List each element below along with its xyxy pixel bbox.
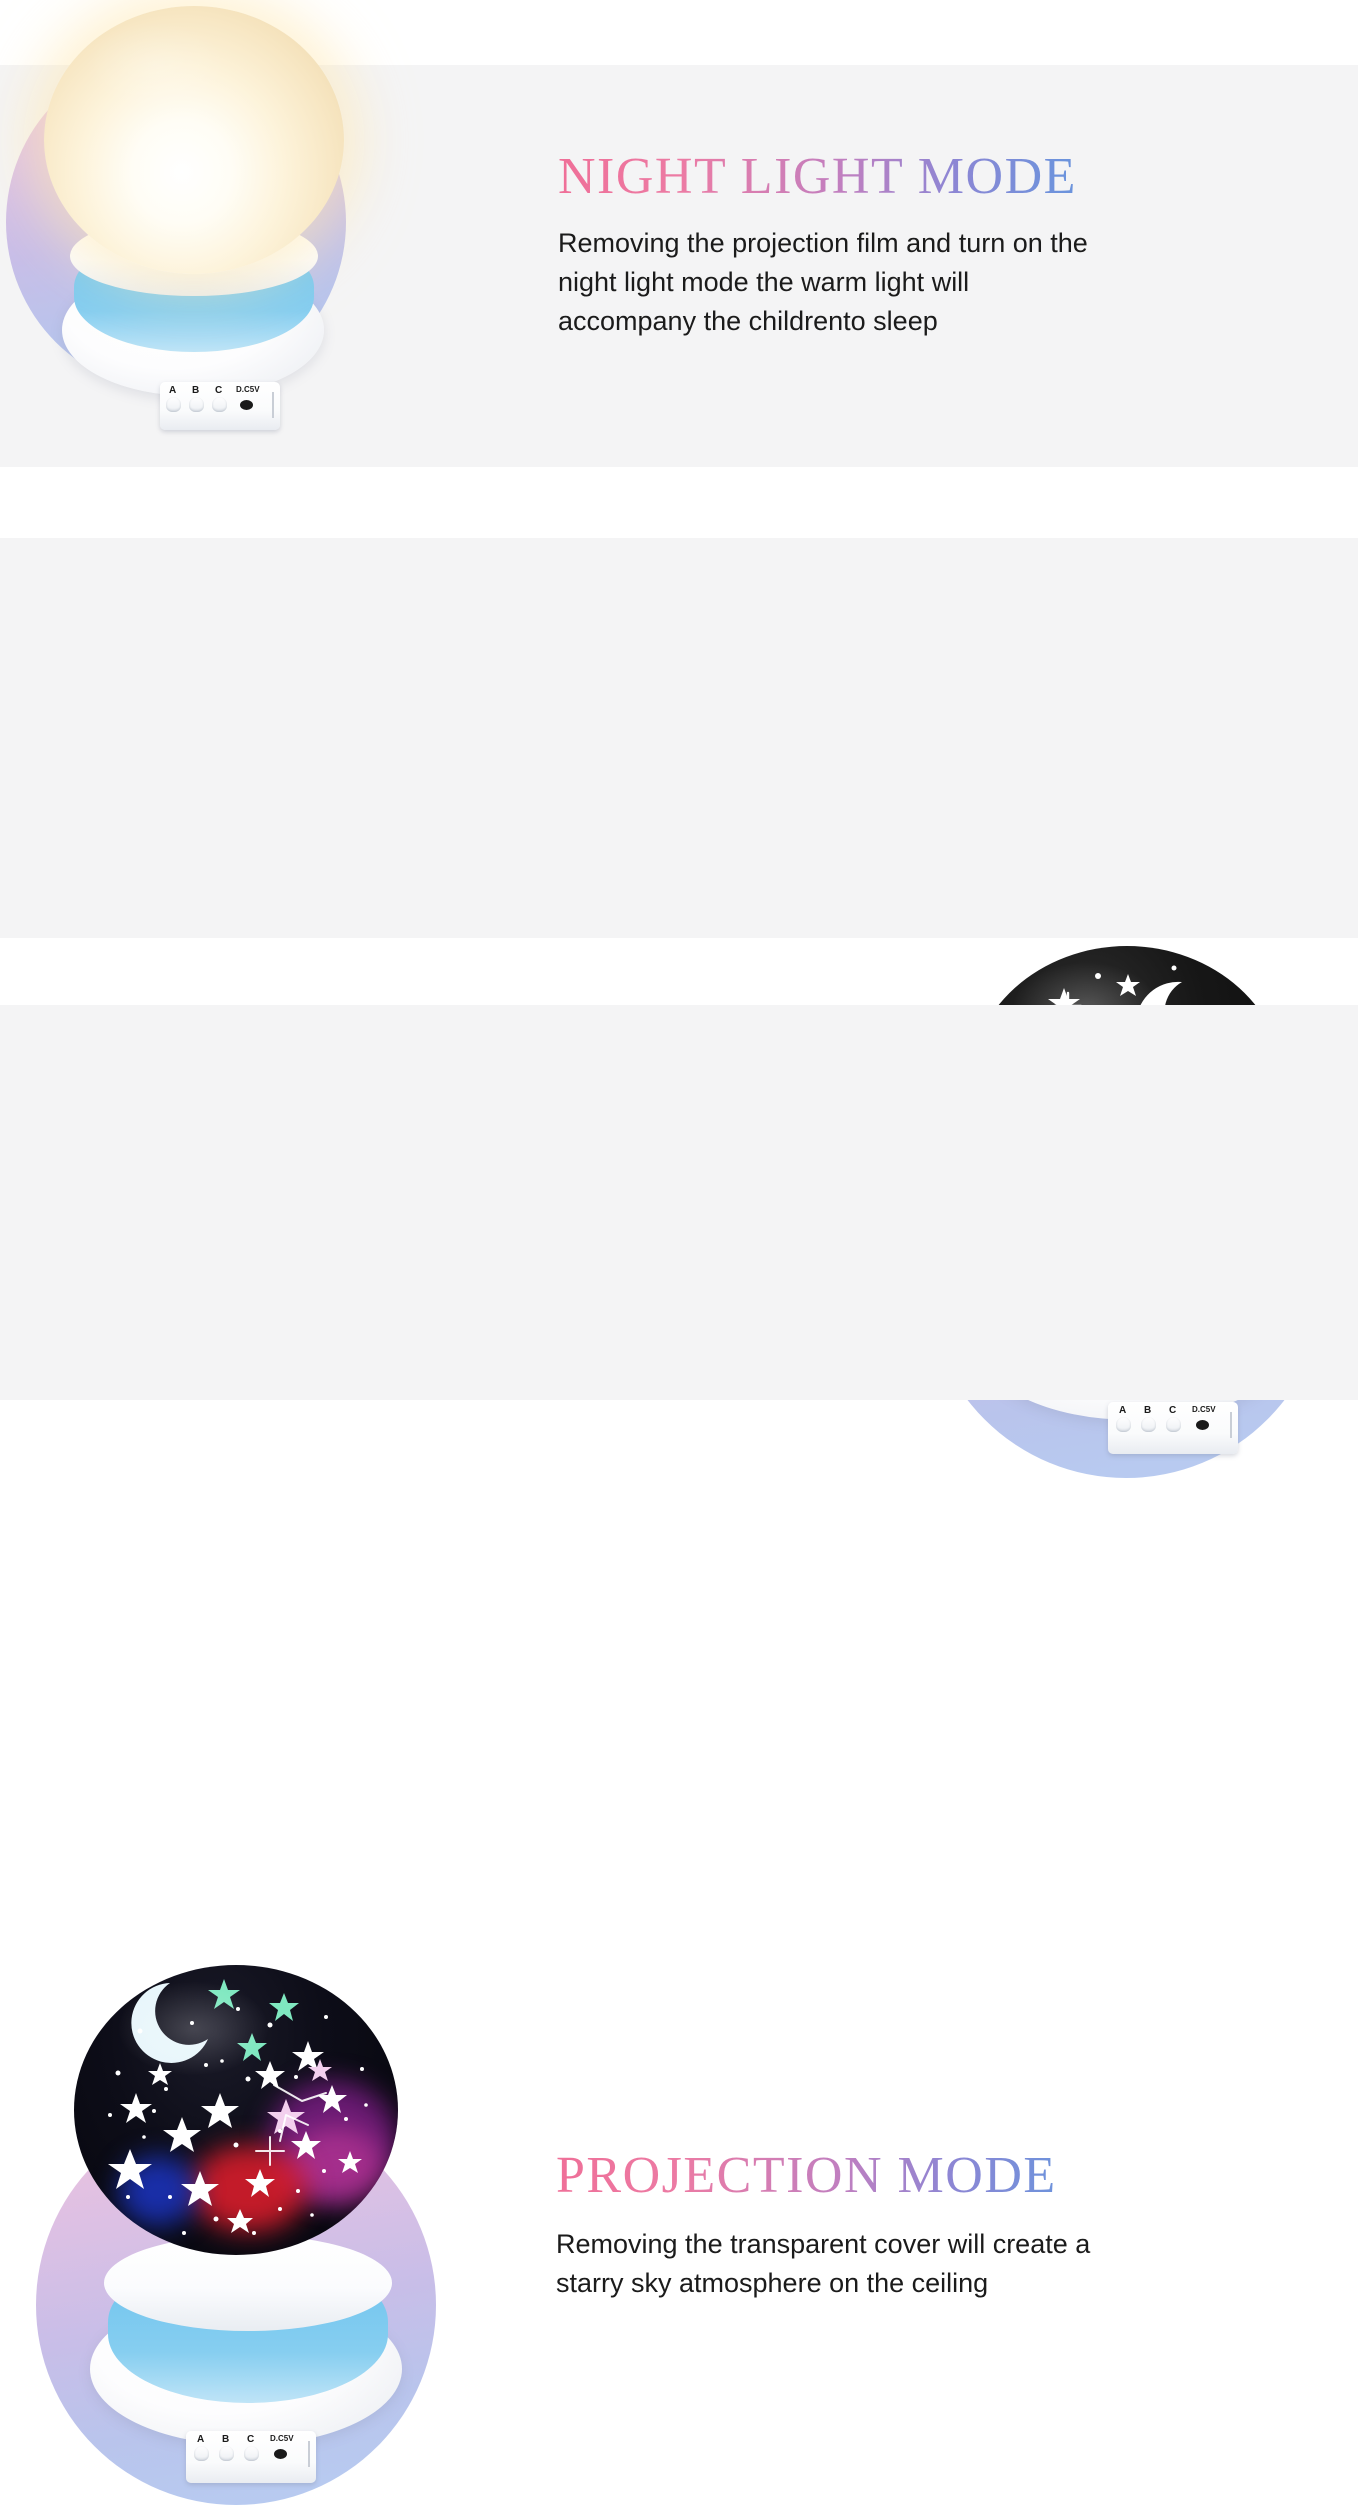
control-label-dc5v: D.C5V [236, 385, 260, 394]
section-rotation-mode: 360° ROTATION DYNAMIC PROJECTION Press C… [0, 470, 1358, 1005]
control-label-dc5v: D.C5V [270, 2434, 294, 2443]
control-label-c: C [247, 2434, 254, 2445]
panel-slot [308, 2441, 310, 2467]
section-night-light-mode: A B C D.C5V NIGHT LIGHT MODE Removing th… [0, 0, 1358, 470]
dome-highlight [86, 22, 224, 108]
control-label-c: C [215, 385, 222, 396]
control-panel[interactable]: A B C D.C5V [186, 2431, 316, 2483]
product-image-projection: A B C D.C5V [28, 1953, 490, 2425]
control-label-a: A [197, 2434, 204, 2445]
control-label-b: B [222, 2434, 229, 2445]
dc-power-jack[interactable] [240, 400, 253, 410]
body-projection-mode: Removing the transparent cover will crea… [556, 2225, 1236, 2303]
text-block-projection: PROJECTION MODE Removing the transparent… [556, 2147, 1236, 2303]
button-a[interactable] [166, 397, 181, 412]
button-c[interactable] [212, 397, 227, 412]
text-block-night-light: NIGHT LIGHT MODE Removing the projection… [558, 148, 1238, 341]
button-b[interactable] [189, 397, 204, 412]
galaxy-nebula-dome [74, 1965, 398, 2255]
dc-power-jack[interactable] [274, 2449, 287, 2459]
body-night-light-mode: Removing the projection film and turn on… [558, 224, 1238, 341]
warm-glow-dome [44, 6, 344, 274]
section-projection-mode: A B C D.C5V PROJECTION MODE Removing the… [0, 1005, 1358, 1427]
galaxy-star-pattern [74, 1965, 398, 2255]
heading-projection-mode: PROJECTION MODE [556, 2147, 1236, 2205]
control-label-a: A [169, 385, 176, 396]
button-a[interactable] [194, 2446, 209, 2461]
button-c[interactable] [244, 2446, 259, 2461]
product-image-night-light: A B C D.C5V [0, 0, 460, 460]
control-panel[interactable]: A B C D.C5V [160, 382, 280, 430]
heading-night-light-mode: NIGHT LIGHT MODE [558, 148, 1238, 206]
button-b[interactable] [219, 2446, 234, 2461]
control-label-b: B [192, 385, 199, 396]
panel-slot [272, 392, 274, 418]
